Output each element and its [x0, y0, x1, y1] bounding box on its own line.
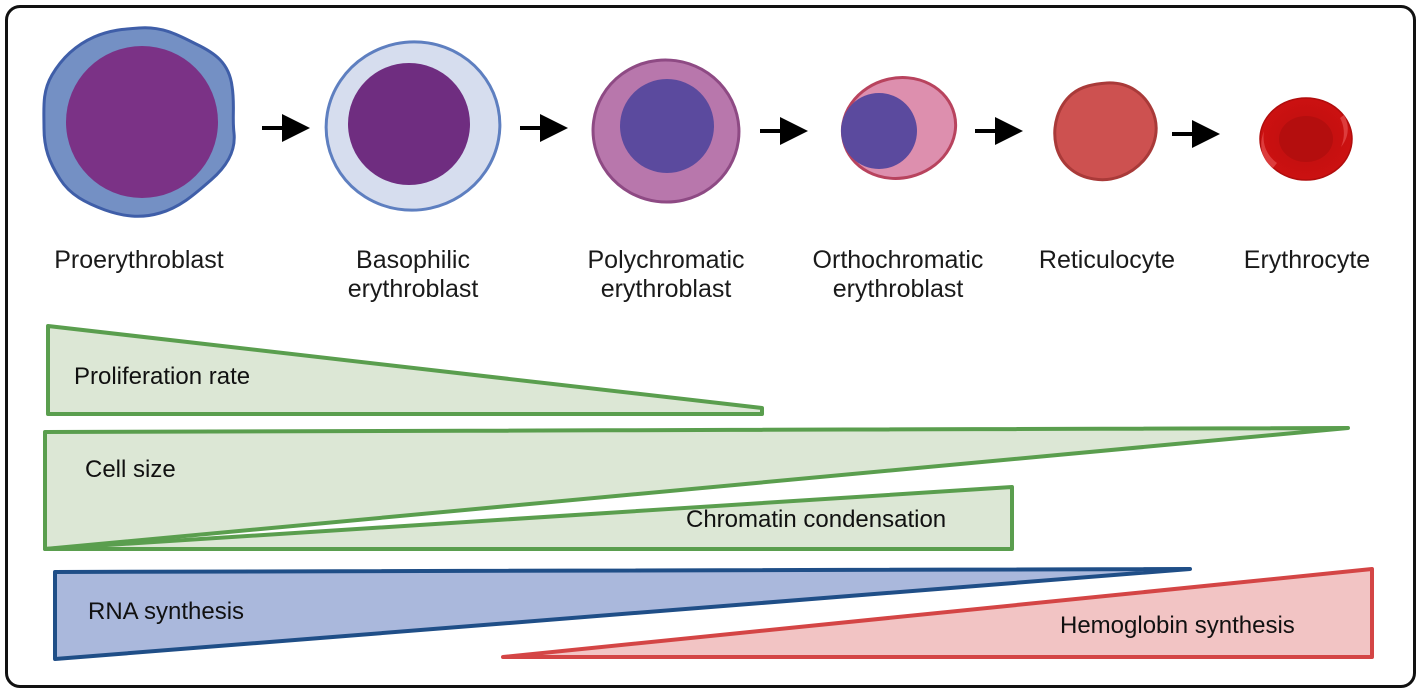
- wedge-label-proliferation-rate: Proliferation rate: [74, 363, 250, 391]
- erythropoiesis-figure: Proerythroblast Basophilic erythroblast …: [0, 0, 1427, 699]
- wedge-label-chromatin-condensation: Chromatin condensation: [686, 506, 946, 534]
- trend-wedges-graphic: [0, 0, 1427, 699]
- wedge-label-hemoglobin-synthesis: Hemoglobin synthesis: [1060, 612, 1295, 640]
- wedge-label-rna-synthesis: RNA synthesis: [88, 598, 244, 626]
- wedge-label-cell-size: Cell size: [85, 456, 176, 484]
